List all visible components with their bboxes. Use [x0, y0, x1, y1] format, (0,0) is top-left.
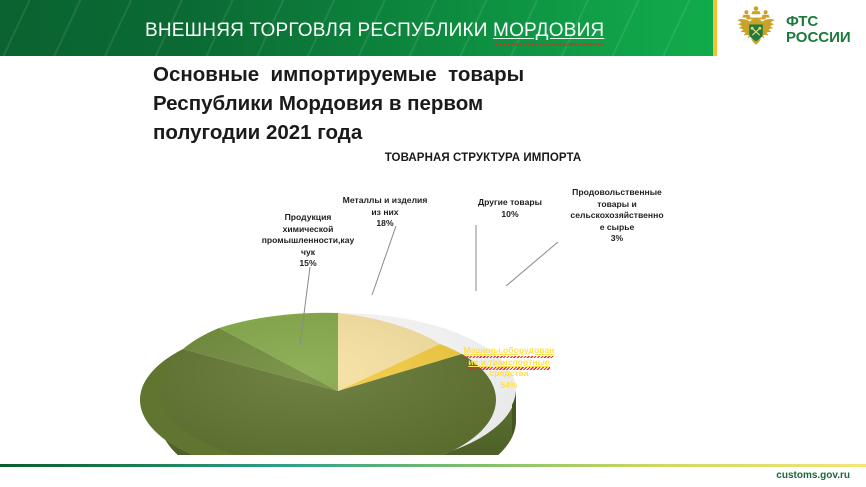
- header-title-highlight: МОРДОВИЯ: [493, 20, 604, 41]
- footer-url: customs.gov.ru: [776, 470, 850, 481]
- russian-coat-of-arms-eagle-icon: [733, 5, 779, 55]
- callout-chemicals-line-2: химической: [283, 224, 334, 234]
- callout-other-goods: Другие товары 10%: [457, 197, 563, 220]
- callout-chemicals-line-3: промышленности,кау: [262, 235, 355, 245]
- callout-food-products: Продовольственные товары и сельскохозяйс…: [558, 187, 676, 245]
- callout-metals: Металлы и изделия из них 18%: [330, 195, 440, 230]
- callout-metals-percent: 18%: [330, 218, 440, 230]
- callout-machines-line-1: Машины,оборудован: [464, 345, 555, 355]
- callout-other-goods-percent: 10%: [457, 209, 563, 221]
- callout-food-line-3: сельскохозяйственно: [570, 210, 663, 220]
- callout-chemicals-line-1: Продукция: [285, 212, 332, 222]
- callout-machines-line-3: средства: [489, 368, 528, 378]
- callout-machines-line-2: ие и транспортные: [468, 357, 549, 367]
- fts-logo-text: ФТС РОССИИ: [786, 14, 851, 46]
- header-gold-divider: [713, 0, 717, 56]
- import-structure-pie-chart: ТОВАРНАЯ СТРУКТУРА ИМПОРТА: [0, 145, 866, 455]
- callout-chemicals-percent: 15%: [252, 258, 364, 270]
- callout-food-line-2: товары и: [597, 199, 637, 209]
- callout-machines-transport: Машины,оборудован ие и транспортные сред…: [443, 345, 575, 391]
- page-title-line-3: полугодии 2021 года: [153, 118, 623, 147]
- callout-metals-line-2: из них: [371, 207, 398, 217]
- callout-food-percent: 3%: [558, 233, 676, 245]
- callout-machines-percent: 54%: [500, 380, 517, 390]
- header-title-prefix: ВНЕШНЯЯ ТОРГОВЛЯ РЕСПУБЛИКИ: [145, 20, 493, 41]
- footer-gradient-rule: [0, 464, 866, 467]
- page-title: Основные импортируемые товары Республики…: [153, 60, 623, 147]
- logo-line-1: ФТС: [786, 14, 851, 30]
- pie-chart-graphic: [0, 145, 866, 455]
- callout-food-line-1: Продовольственные: [572, 187, 662, 197]
- page-title-line-2: Республики Мордовия в первом: [153, 89, 623, 118]
- callout-food-line-4: е сырье: [600, 222, 635, 232]
- logo-line-2: РОССИИ: [786, 30, 851, 46]
- fts-russia-logo: ФТС РОССИИ: [733, 4, 859, 56]
- callout-chemicals-line-4: чук: [301, 247, 315, 257]
- callout-other-goods-line-1: Другие товары: [478, 197, 542, 207]
- header-title: ВНЕШНЯЯ ТОРГОВЛЯ РЕСПУБЛИКИ МОРДОВИЯ: [145, 20, 604, 42]
- callout-metals-line-1: Металлы и изделия: [343, 195, 428, 205]
- page-title-line-1: Основные импортируемые товары: [153, 60, 623, 89]
